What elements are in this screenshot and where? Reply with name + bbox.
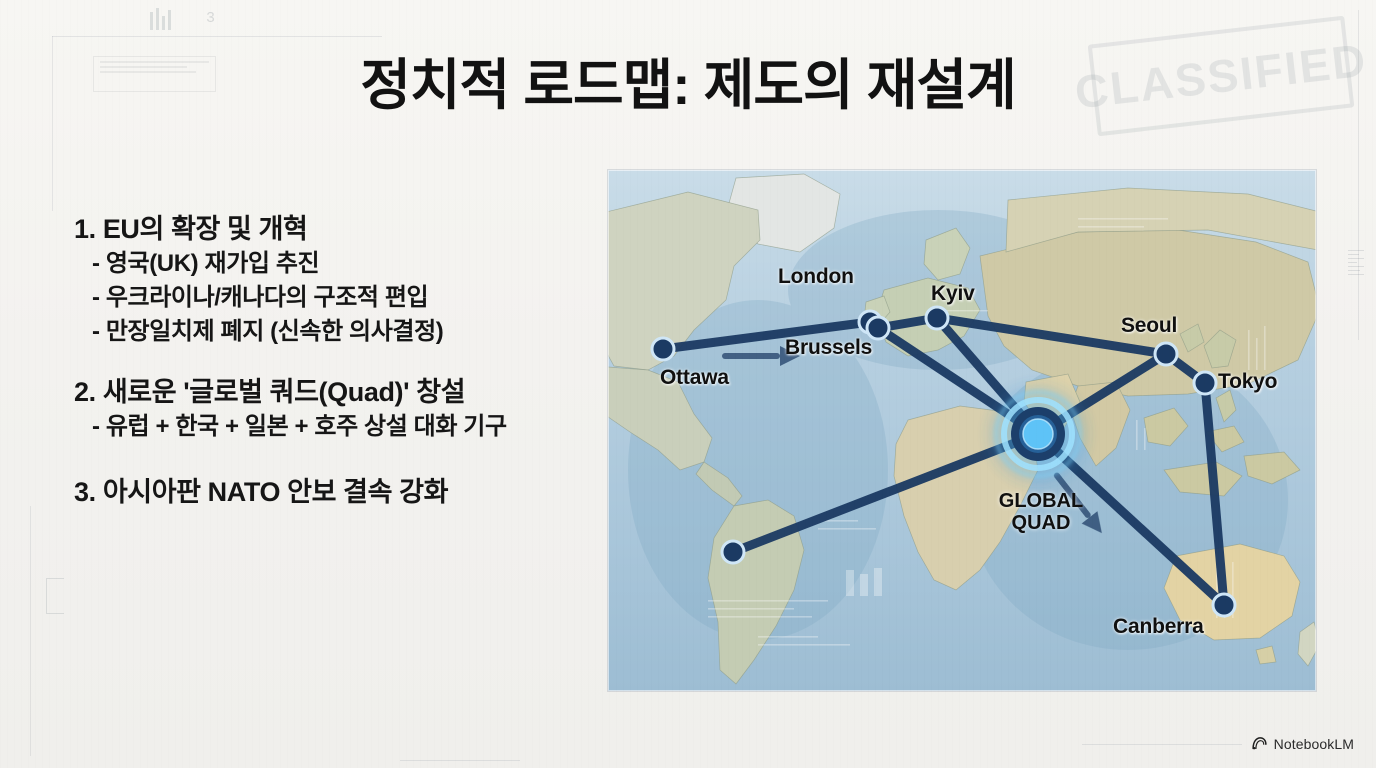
city-label-kyiv: Kyiv	[931, 282, 975, 306]
roadmap-item-3-heading: 3. 아시아판 NATO 안보 결속 강화	[74, 475, 594, 510]
city-label-ottawa: Ottawa	[660, 366, 729, 390]
page-title: 정치적 로드맵: 제도의 재설계	[0, 40, 1376, 120]
deco-top-rule	[52, 36, 382, 37]
notebooklm-brand-label: NotebookLM	[1274, 736, 1354, 752]
deco-bottom-rule-2	[400, 760, 520, 761]
roadmap-item-2-heading: 2. 새로운 '글로벌 쿼드(Quad)' 창설	[74, 375, 594, 410]
roadmap-item-1-sub-1: - 영국(UK) 재가입 추진	[74, 247, 594, 281]
roadmap-item-2: 2. 새로운 '글로벌 쿼드(Quad)' 창설 - 유럽 + 한국 + 일본 …	[74, 375, 594, 444]
deco-left-bracket	[46, 578, 64, 614]
deco-left-edge-rule	[30, 506, 31, 756]
global-quad-hub	[982, 378, 1094, 490]
roadmap-item-3: 3. 아시아판 NATO 안보 결속 강화	[74, 475, 594, 510]
city-label-seoul: Seoul	[1121, 314, 1177, 338]
world-map-panel: Ottawa London Brussels Kyiv Seoul Tokyo …	[608, 170, 1316, 691]
deco-top-bars	[150, 8, 171, 30]
notebooklm-icon	[1251, 735, 1268, 752]
roadmap-list: 1. EU의 확장 및 개혁 - 영국(UK) 재가입 추진 - 우크라이나/캐…	[74, 212, 594, 510]
hub-label-global-quad: GLOBAL QUAD	[986, 490, 1096, 535]
deco-right-ticks	[1348, 250, 1364, 275]
city-label-tokyo: Tokyo	[1218, 370, 1277, 394]
notebooklm-brand: NotebookLM	[1251, 735, 1354, 752]
deco-top-glyph: 3	[206, 10, 215, 27]
city-label-london: London	[778, 265, 854, 289]
roadmap-item-2-sub-1: - 유럽 + 한국 + 일본 + 호주 상설 대화 기구	[74, 410, 594, 444]
roadmap-item-1-sub-3: - 만장일치제 폐지 (신속한 의사결정)	[74, 315, 594, 349]
world-map-svg	[608, 170, 1316, 691]
roadmap-item-1: 1. EU의 확장 및 개혁 - 영국(UK) 재가입 추진 - 우크라이나/캐…	[74, 212, 594, 349]
roadmap-item-1-heading: 1. EU의 확장 및 개혁	[74, 212, 594, 247]
deco-bottom-rule	[1082, 744, 1242, 745]
city-label-canberra: Canberra	[1113, 615, 1204, 639]
roadmap-item-1-sub-2: - 우크라이나/캐나다의 구조적 편입	[74, 281, 594, 315]
city-label-brussels: Brussels	[785, 336, 872, 360]
slide-canvas: 3 CLASSIFIED 정치적 로드맵: 제도의 재설계 1. EU의 확장 …	[0, 0, 1376, 768]
